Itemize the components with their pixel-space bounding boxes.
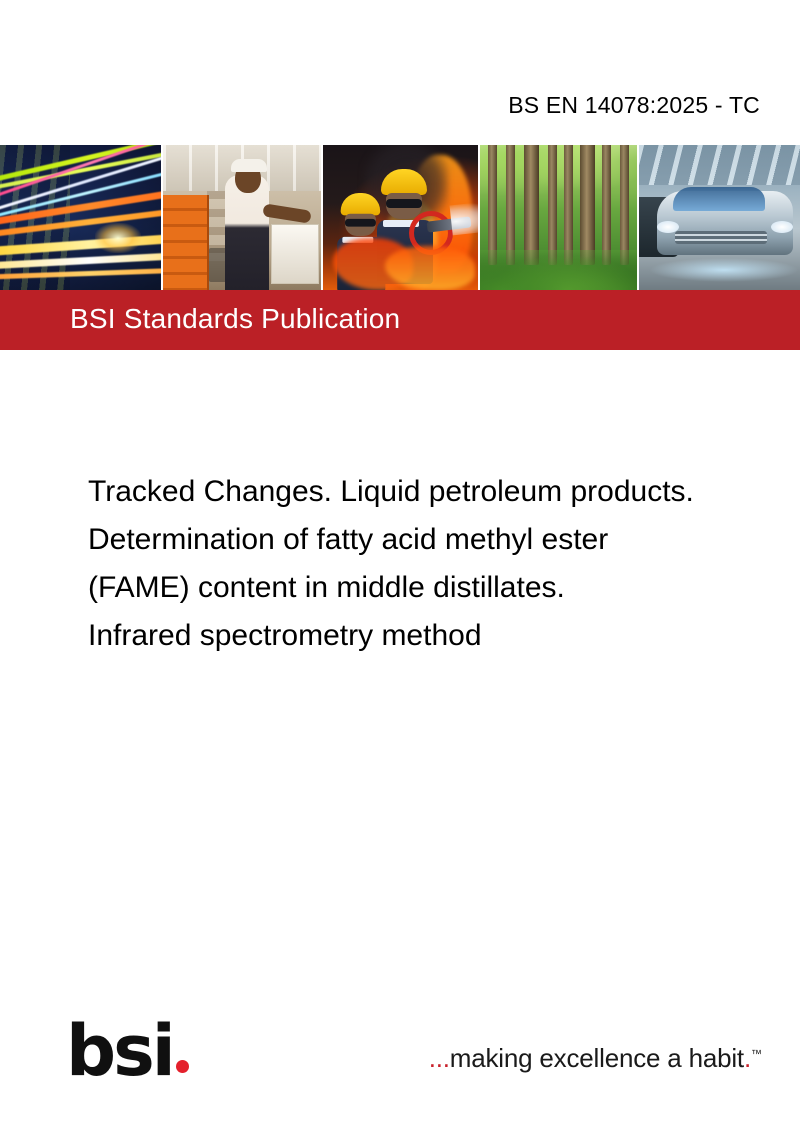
tree-trunk	[548, 145, 557, 265]
tagline-end-dot: .	[744, 1043, 751, 1073]
factory-roof	[639, 145, 800, 185]
tagline-leading-dots: ...	[429, 1043, 450, 1073]
helmet-icon	[381, 169, 427, 195]
orange-crate-stack	[163, 195, 209, 290]
tree-trunk	[602, 145, 611, 265]
firefighter-visor	[345, 219, 376, 227]
tagline-text: making excellence a habit	[450, 1043, 744, 1073]
title-line: (FAME) content in middle distillates.	[88, 564, 778, 612]
forest-undergrowth	[480, 250, 637, 290]
title-line: Determination of fatty acid methyl ester	[88, 516, 778, 564]
banner-panel-warehouse-worker	[163, 145, 323, 290]
band-title: BSI Standards Publication	[70, 303, 400, 335]
banner-panel-traffic-light-trails	[0, 145, 163, 290]
trademark-icon: ™	[751, 1048, 762, 1060]
white-box	[271, 224, 319, 284]
forest-canopy	[480, 145, 637, 203]
tree-trunk	[580, 145, 595, 265]
banner-panel-car-assembly-line	[639, 145, 800, 290]
banner-panel-firefighters	[323, 145, 480, 290]
title-line: Tracked Changes. Liquid petroleum produc…	[88, 468, 778, 516]
car-headlamp	[657, 221, 679, 233]
car-headlamp	[771, 221, 793, 233]
car-grille	[675, 231, 767, 244]
cover-banner	[0, 145, 800, 290]
bsi-logo-dot	[176, 1060, 189, 1073]
tree-trunk	[564, 145, 573, 265]
bsi-logo: bsi	[66, 1018, 189, 1080]
tree-trunk	[524, 145, 539, 265]
bsi-tagline: ...making excellence a habit.™	[429, 1043, 762, 1074]
tree-trunk	[620, 145, 629, 265]
helmet-icon	[341, 193, 381, 215]
car-windscreen	[673, 187, 765, 211]
page-title: Tracked Changes. Liquid petroleum produc…	[88, 468, 778, 660]
floor-reflection	[649, 258, 799, 282]
tree-trunk	[488, 145, 497, 265]
banner-panel-forest	[480, 145, 639, 290]
document-number: BS EN 14078:2025 - TC	[508, 92, 760, 119]
headlight-glow	[95, 223, 141, 253]
worker-arm	[262, 203, 311, 223]
worker-cap	[231, 159, 267, 172]
tree-trunk	[506, 145, 515, 265]
bsi-logo-text: bsi	[66, 1022, 173, 1080]
water-spray	[450, 201, 480, 236]
bsi-standards-publication-band: BSI Standards Publication	[0, 290, 800, 350]
firefighter-visor	[386, 199, 422, 208]
title-line: Infrared spectrometry method	[88, 612, 778, 660]
